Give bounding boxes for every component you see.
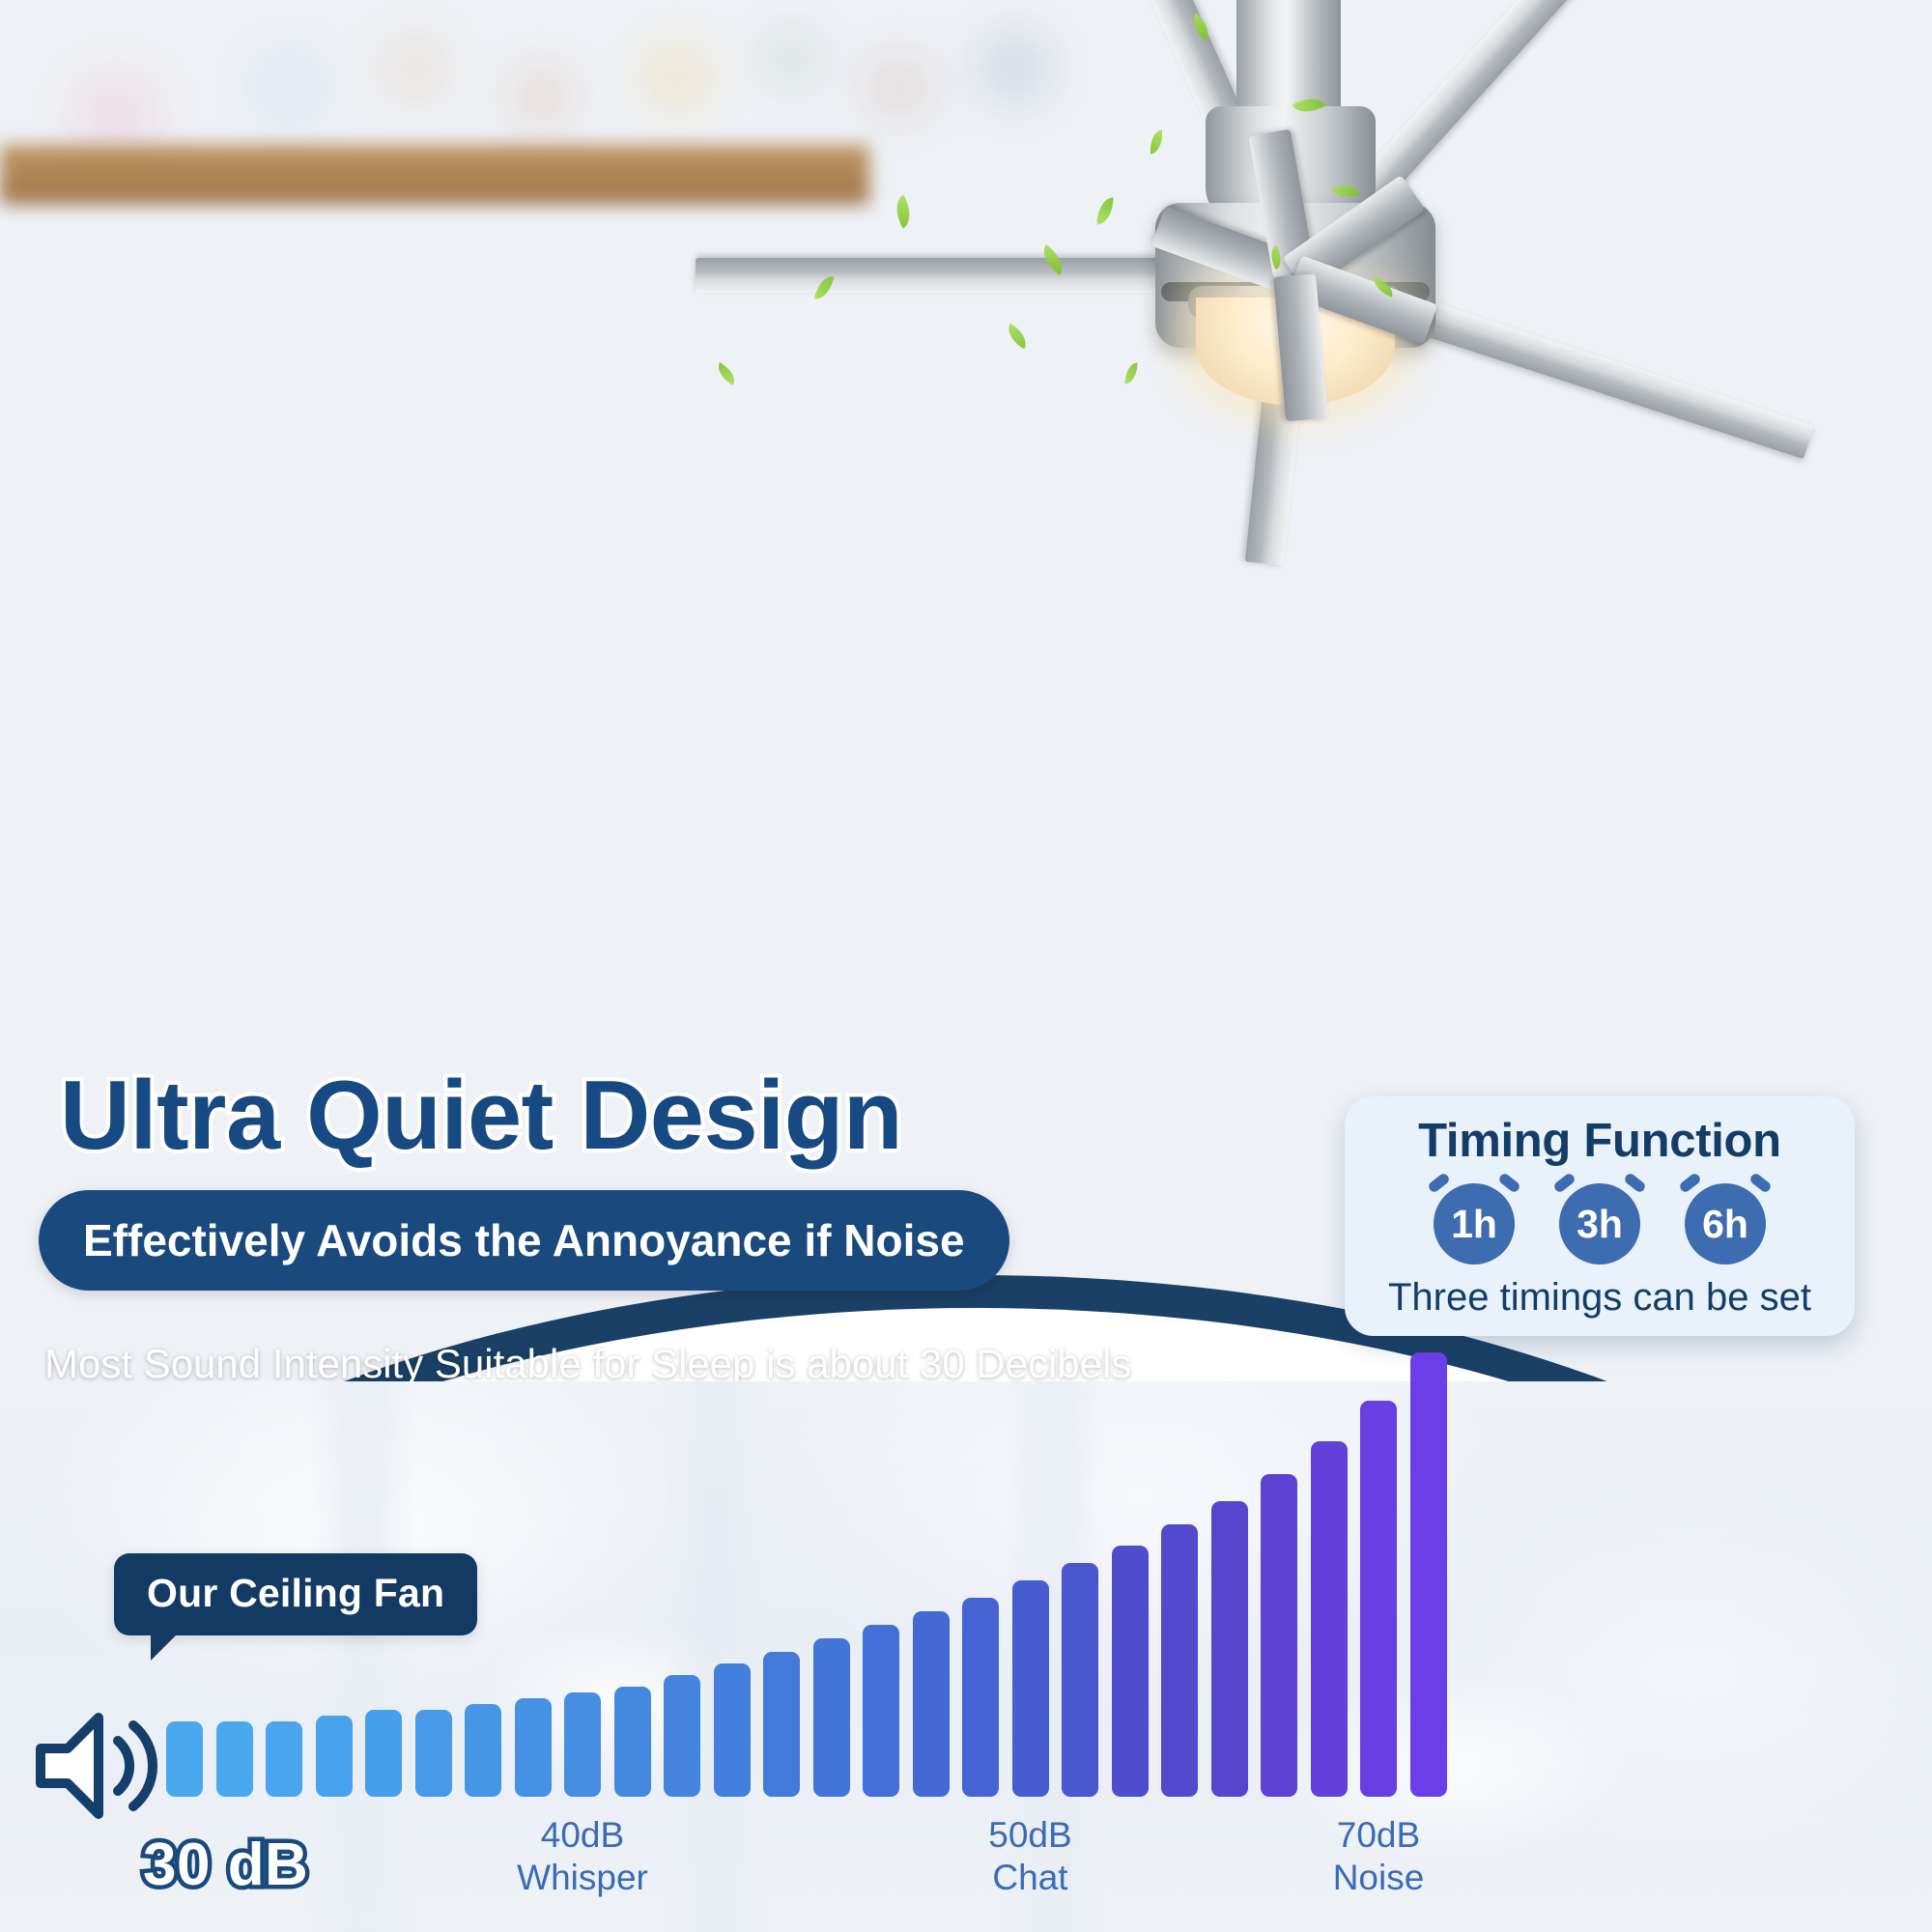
floating-leaf-icon (1003, 324, 1033, 350)
chart-bar (216, 1721, 253, 1797)
product-infographic: Ultra Quiet Design Effectively Avoids th… (0, 0, 1932, 1932)
timing-option-1h[interactable]: 1h (1434, 1183, 1515, 1264)
axis-tick-label: 70dBNoise (1272, 1814, 1485, 1898)
alarm-clock-ear-right (1748, 1172, 1773, 1194)
axis-tick-value: 50dB (924, 1814, 1137, 1857)
timing-function-card: Timing Function 1h3h6h Three timings can… (1345, 1096, 1855, 1336)
chart-bar (515, 1698, 552, 1797)
chart-bar (1311, 1441, 1348, 1797)
chart-bar (1012, 1580, 1049, 1797)
axis-tick-value: 70dB (1272, 1814, 1485, 1857)
our-fan-db-value: 30 dB (143, 1831, 308, 1899)
timing-options-row: 1h3h6h (1345, 1183, 1855, 1264)
axis-tick-name: Chat (924, 1857, 1137, 1899)
chart-bar (166, 1721, 203, 1797)
alarm-clock-ear-right (1497, 1172, 1521, 1194)
axis-tick-label: 50dBChat (924, 1814, 1137, 1898)
chart-bar (813, 1638, 850, 1797)
chart-bar (763, 1652, 800, 1797)
chart-bar (465, 1704, 501, 1797)
chart-bar (266, 1721, 302, 1797)
headline-pill-label: Effectively Avoids the Annoyance if Nois… (83, 1214, 965, 1266)
floating-leaf-icon (1125, 363, 1138, 384)
page-title: Ultra Quiet Design (60, 1061, 902, 1172)
chart-bar (564, 1692, 601, 1797)
our-ceiling-fan-tooltip: Our Ceiling Fan (114, 1553, 477, 1635)
alarm-clock-ear-left (1552, 1172, 1577, 1194)
floating-leaf-icon (1149, 129, 1164, 154)
headline-subline: Most Sound Intensity Suitable for Sleep … (44, 1341, 1131, 1387)
alarm-clock-ear-left (1678, 1172, 1702, 1194)
chart-bar (913, 1611, 950, 1797)
axis-tick-name: Noise (1272, 1857, 1485, 1899)
bookshelf-blur (0, 145, 869, 205)
alarm-clock-ear-right (1623, 1172, 1647, 1194)
timing-card-subtitle: Three timings can be set (1345, 1276, 1855, 1320)
chart-bar (1211, 1501, 1248, 1797)
chart-bar (1112, 1546, 1149, 1797)
floating-leaf-icon (1097, 198, 1114, 225)
axis-tick-value: 40dB (476, 1814, 689, 1857)
timing-option-label: 3h (1559, 1183, 1640, 1264)
chart-bar (664, 1675, 700, 1797)
timing-option-6h[interactable]: 6h (1685, 1183, 1766, 1264)
chart-bar (365, 1710, 402, 1797)
ceiling-fan-image (947, 0, 1932, 580)
chart-bar (1410, 1352, 1447, 1797)
timing-option-3h[interactable]: 3h (1559, 1183, 1640, 1264)
chart-bar (1062, 1563, 1098, 1797)
chart-bar (1360, 1401, 1397, 1797)
axis-tick-name: Whisper (476, 1857, 689, 1899)
chart-bar (316, 1716, 353, 1797)
chart-bar (962, 1598, 999, 1797)
chart-bar (1161, 1524, 1198, 1797)
timing-card-title: Timing Function (1345, 1114, 1855, 1168)
headline-pill: Effectively Avoids the Annoyance if Nois… (39, 1190, 1009, 1291)
alarm-clock-ear-left (1427, 1172, 1451, 1194)
timing-option-label: 6h (1685, 1183, 1766, 1264)
chart-bar (614, 1687, 651, 1797)
chart-bar (415, 1710, 452, 1797)
volume-speaker-icon (21, 1698, 168, 1833)
chart-bar (863, 1625, 899, 1797)
chart-bar (1261, 1474, 1297, 1797)
timing-option-label: 1h (1434, 1183, 1515, 1264)
axis-tick-label: 40dBWhisper (476, 1814, 689, 1898)
chart-bar (714, 1663, 751, 1797)
